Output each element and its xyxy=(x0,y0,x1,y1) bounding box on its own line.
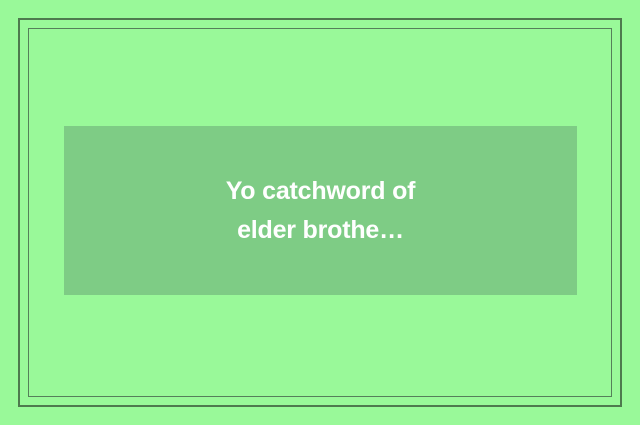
banner-text-line-2: elder brothe… xyxy=(64,211,577,250)
banner-block: Yo catchword of elder brothe… xyxy=(64,126,577,295)
card-root: Yo catchword of elder brothe… xyxy=(0,0,640,425)
banner-text-line-1: Yo catchword of xyxy=(64,172,577,211)
